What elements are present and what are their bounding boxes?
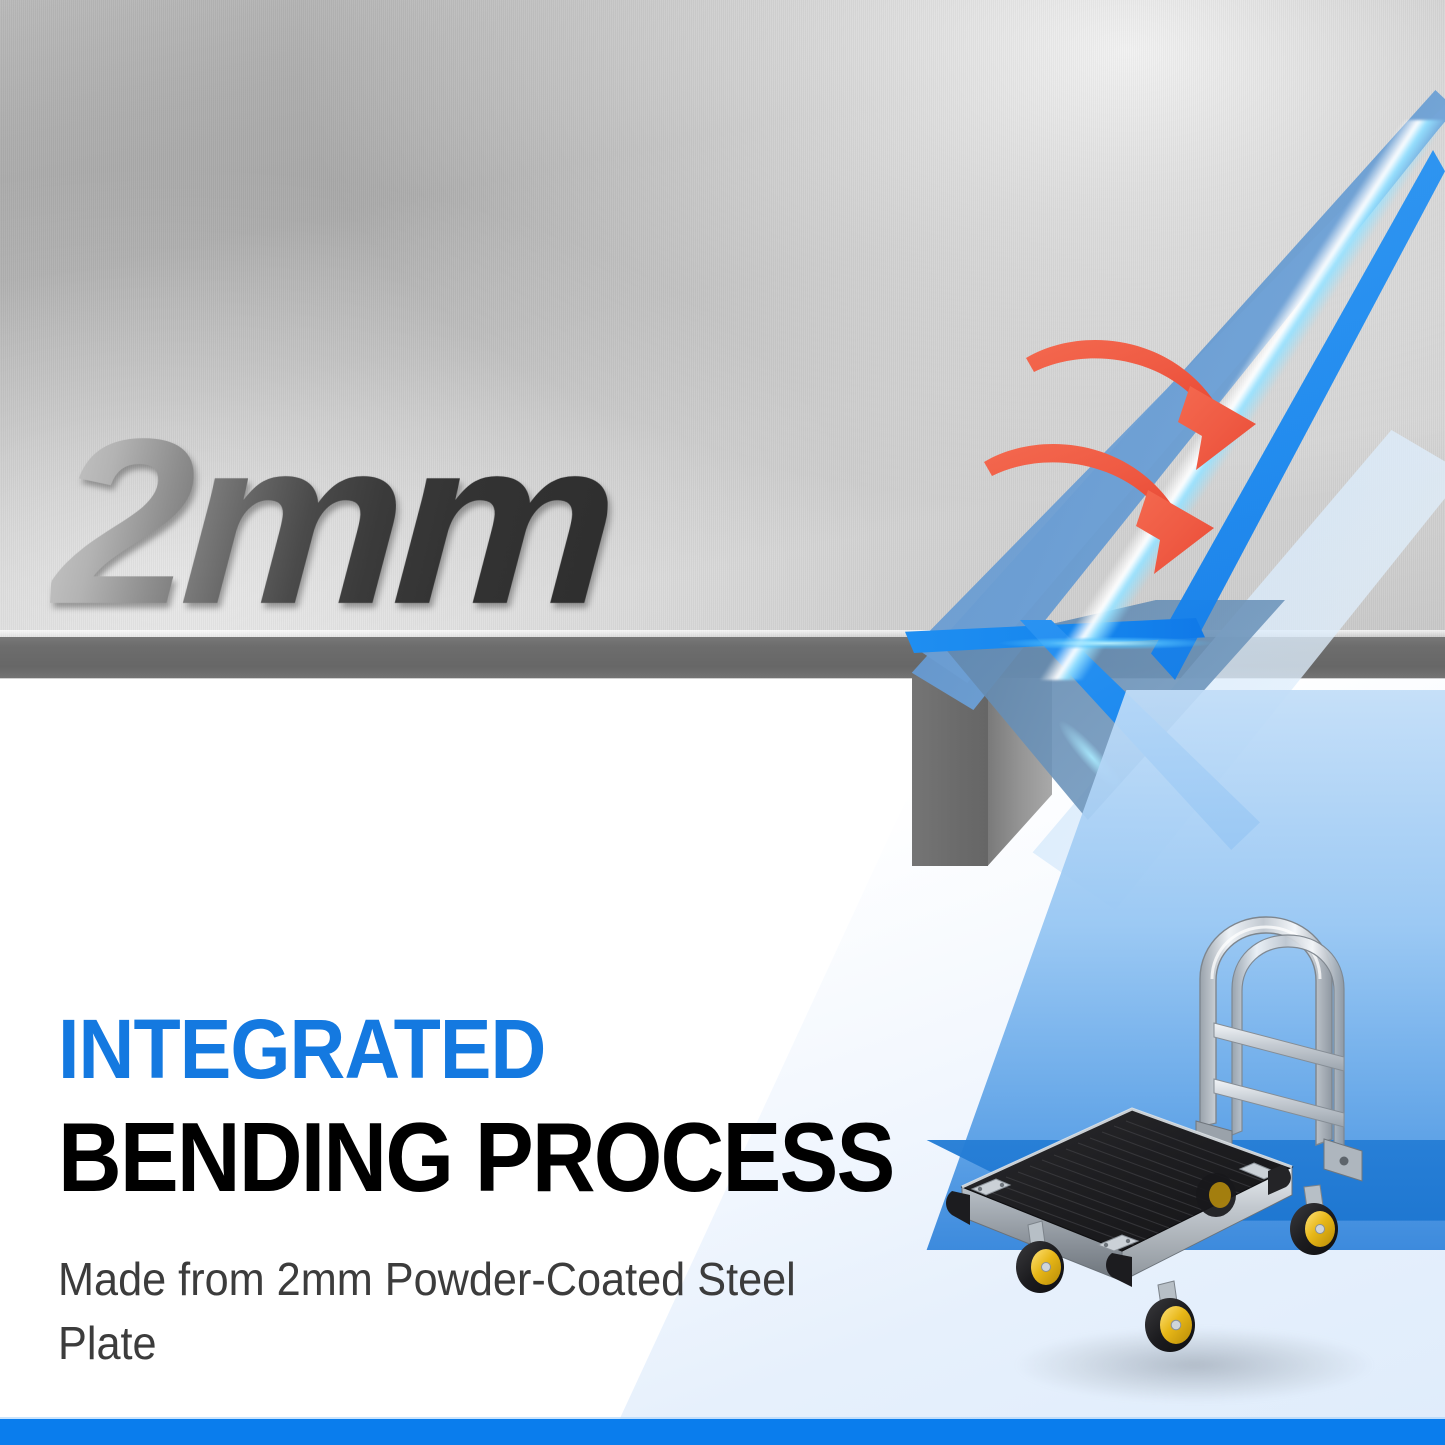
bend-arrows-group xyxy=(1020,320,1350,580)
swivel-caster-rear-left xyxy=(1196,1173,1236,1217)
headline-primary: INTEGRATED xyxy=(58,1008,941,1090)
swivel-caster-front-right xyxy=(1145,1281,1195,1352)
swivel-caster-rear-right xyxy=(1290,1185,1338,1255)
thickness-label: 2mm xyxy=(48,404,613,640)
subcopy-text: Made from 2mm Powder-Coated Steel Plate xyxy=(58,1248,848,1375)
poster-root: 2mm xyxy=(0,0,1445,1445)
headline-secondary: BENDING PROCESS xyxy=(58,1108,922,1206)
bottom-accent-bar xyxy=(0,1419,1445,1445)
copy-block: INTEGRATED BENDING PROCESS Made from 2mm… xyxy=(58,1008,1018,1375)
